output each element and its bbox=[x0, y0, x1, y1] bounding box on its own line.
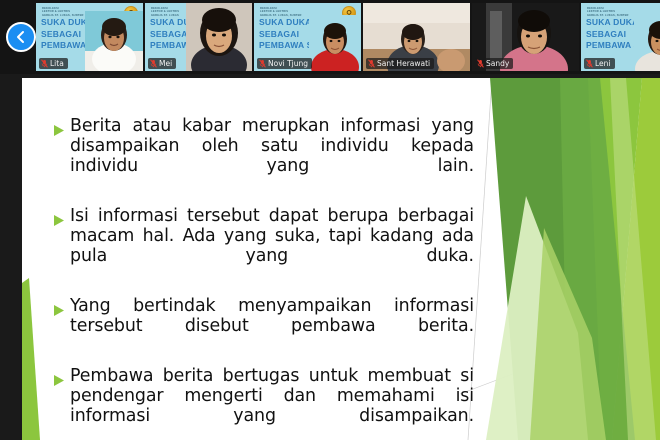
slide-thumb-header: REKOLEKSI LEKTOR & LEKTRIS GEREJA ST. LU… bbox=[260, 7, 302, 17]
participant-tiles: REKOLEKSI LEKTOR & LEKTRIS GEREJA ST. LU… bbox=[36, 3, 624, 71]
slide-thumb-header: REKOLEKSI LEKTOR & LEKTRIS GEREJA ST. LU… bbox=[587, 7, 629, 17]
participant-filmstrip: REKOLEKSI LEKTOR & LEKTRIS GEREJA ST. LU… bbox=[0, 0, 660, 74]
triangle-bullet-icon bbox=[54, 373, 64, 391]
participant-name: Sandy bbox=[486, 59, 509, 68]
bullet-text: Pembawa berita bertugas untuk membuat si… bbox=[70, 366, 474, 440]
camera-overlay bbox=[186, 3, 252, 71]
avatar bbox=[85, 11, 143, 71]
mic-muted-icon bbox=[259, 59, 266, 68]
mic-muted-icon bbox=[150, 59, 157, 68]
list-item: Pembawa berita bertugas untuk membuat si… bbox=[54, 366, 474, 440]
participant-tile[interactable]: REKOLEKSI LEKTOR & LEKTRIS GEREJA ST. LU… bbox=[581, 3, 660, 71]
green-wedge-shape bbox=[22, 78, 48, 440]
list-item: Berita atau kabar merupkan informasi yan… bbox=[54, 116, 474, 196]
participant-name: Sant Herawati bbox=[377, 59, 430, 68]
filmstrip-prev-button[interactable] bbox=[6, 22, 36, 52]
participant-name: Lita bbox=[50, 59, 64, 68]
participant-tile[interactable]: Sandy bbox=[472, 3, 579, 71]
bullet-text: Isi informasi tersebut dapat berupa berb… bbox=[70, 206, 474, 286]
slide-bullet-list: Berita atau kabar merupkan informasi yan… bbox=[54, 116, 474, 440]
avatar bbox=[309, 15, 361, 71]
participant-name: Leni bbox=[595, 59, 611, 68]
mic-muted-icon bbox=[41, 59, 48, 68]
green-facet-shapes bbox=[460, 78, 660, 440]
avatar bbox=[186, 3, 252, 71]
participant-name-chip: Sant Herawati bbox=[366, 58, 434, 69]
list-item: Isi informasi tersebut dapat berupa berb… bbox=[54, 206, 474, 286]
participant-name-chip: Leni bbox=[584, 58, 615, 69]
slide-thumb-header: REKOLEKSI LEKTOR & LEKTRIS GEREJA ST. LU… bbox=[42, 7, 84, 17]
slide-thumb-header: REKOLEKSI LEKTOR & LEKTRIS GEREJA ST. LU… bbox=[151, 7, 179, 17]
avatar bbox=[634, 13, 660, 71]
list-item: Yang bertindak menyampaikan informasi te… bbox=[54, 296, 474, 356]
triangle-bullet-icon bbox=[54, 123, 64, 141]
shared-screen-stage[interactable]: Berita atau kabar merupkan informasi yan… bbox=[0, 74, 660, 440]
chevron-left-icon bbox=[14, 30, 28, 44]
camera-overlay bbox=[85, 11, 143, 71]
slide-right-accent-shapes bbox=[460, 78, 660, 440]
bullet-text: Berita atau kabar merupkan informasi yan… bbox=[70, 116, 474, 196]
participant-tile[interactable]: REKOLEKSI LEKTOR & LEKTRIS GEREJA ST. LU… bbox=[145, 3, 252, 71]
participant-name-chip: Mei bbox=[148, 58, 176, 69]
triangle-bullet-icon bbox=[54, 213, 64, 231]
participant-name-chip: Novi Tjung bbox=[257, 58, 312, 69]
bullet-text: Yang bertindak menyampaikan informasi te… bbox=[70, 296, 474, 356]
participant-name-chip: Lita bbox=[39, 58, 68, 69]
triangle-bullet-icon bbox=[54, 303, 64, 321]
camera-overlay bbox=[309, 15, 361, 71]
mic-muted-icon bbox=[586, 59, 593, 68]
mic-muted-icon bbox=[477, 59, 484, 68]
participant-name: Novi Tjung bbox=[268, 59, 308, 68]
presentation-slide: Berita atau kabar merupkan informasi yan… bbox=[22, 78, 660, 440]
participant-tile[interactable]: REKOLEKSI LEKTOR & LEKTRIS GEREJA ST. LU… bbox=[36, 3, 143, 71]
slide-left-accent-shape bbox=[22, 78, 48, 440]
participant-tile[interactable]: Sant Herawati bbox=[363, 3, 470, 71]
participant-tile[interactable]: REKOLEKSI LEKTOR & LEKTRIS GEREJA ST. LU… bbox=[254, 3, 361, 71]
mic-muted-icon bbox=[368, 59, 375, 68]
camera-overlay bbox=[634, 13, 660, 71]
participant-name: Mei bbox=[159, 59, 172, 68]
participant-name-chip: Sandy bbox=[475, 58, 513, 69]
